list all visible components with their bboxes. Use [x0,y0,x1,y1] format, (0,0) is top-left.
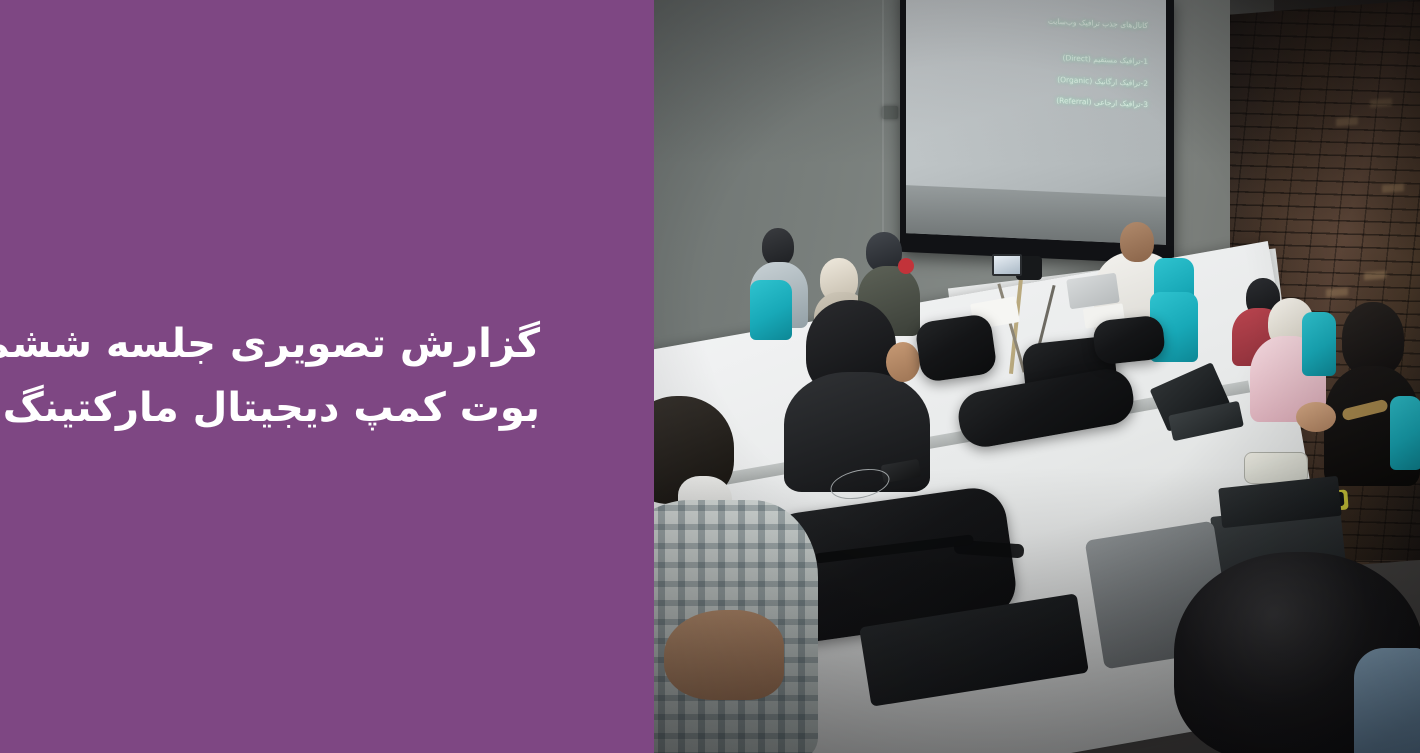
slide-item: 2-ترافیک ارگانیک (Organic) [946,71,1148,89]
title-line-1: گزارش تصویری جلسه ششم [0,313,540,376]
projected-slide: کانال‌های جذب ترافیک وب‌سایت 1-ترافیک مس… [906,0,1166,245]
camera-monitor [992,254,1022,276]
teal-chair [1390,396,1420,470]
slide-bullet-list: 1-ترافیک مستقیم (Direct) 2-ترافیک ارگانی… [906,47,1148,110]
instructor-head [1120,222,1154,262]
title-line-2: بوت کمپ دیجیتال مارکتینگ [0,377,540,440]
wall-fixture-icon [882,106,898,119]
attendee-head-hijab-dark [1342,302,1404,376]
handheld-object [898,258,914,274]
projector-screen: کانال‌های جذب ترافیک وب‌سایت 1-ترافیک مس… [906,0,1166,245]
teal-chair [750,280,792,340]
attendee-arm [664,610,784,700]
session-report-banner: کانال‌های جذب ترافیک وب‌سایت 1-ترافیک مس… [0,0,1420,753]
slide-item: 1-ترافیک مستقیم (Direct) [946,49,1148,67]
attendee-head [762,228,794,266]
slide-title: کانال‌های جذب ترافیک وب‌سایت [906,10,1148,30]
title-panel: گزارش تصویری جلسه ششم بوت کمپ دیجیتال ما… [0,0,654,753]
attendee-shoulder [1354,648,1420,753]
backpack [914,313,998,383]
slide-item: 3-ترافیک ارجاعی (Referral) [946,92,1148,110]
backpack [1092,314,1166,365]
classroom-photo: کانال‌های جذب ترافیک وب‌سایت 1-ترافیک مس… [654,0,1420,753]
attendee-hand [1296,402,1336,432]
attendee-hand [886,342,920,382]
title-block: گزارش تصویری جلسه ششم بوت کمپ دیجیتال ما… [0,313,654,439]
teal-chair [1302,312,1336,376]
